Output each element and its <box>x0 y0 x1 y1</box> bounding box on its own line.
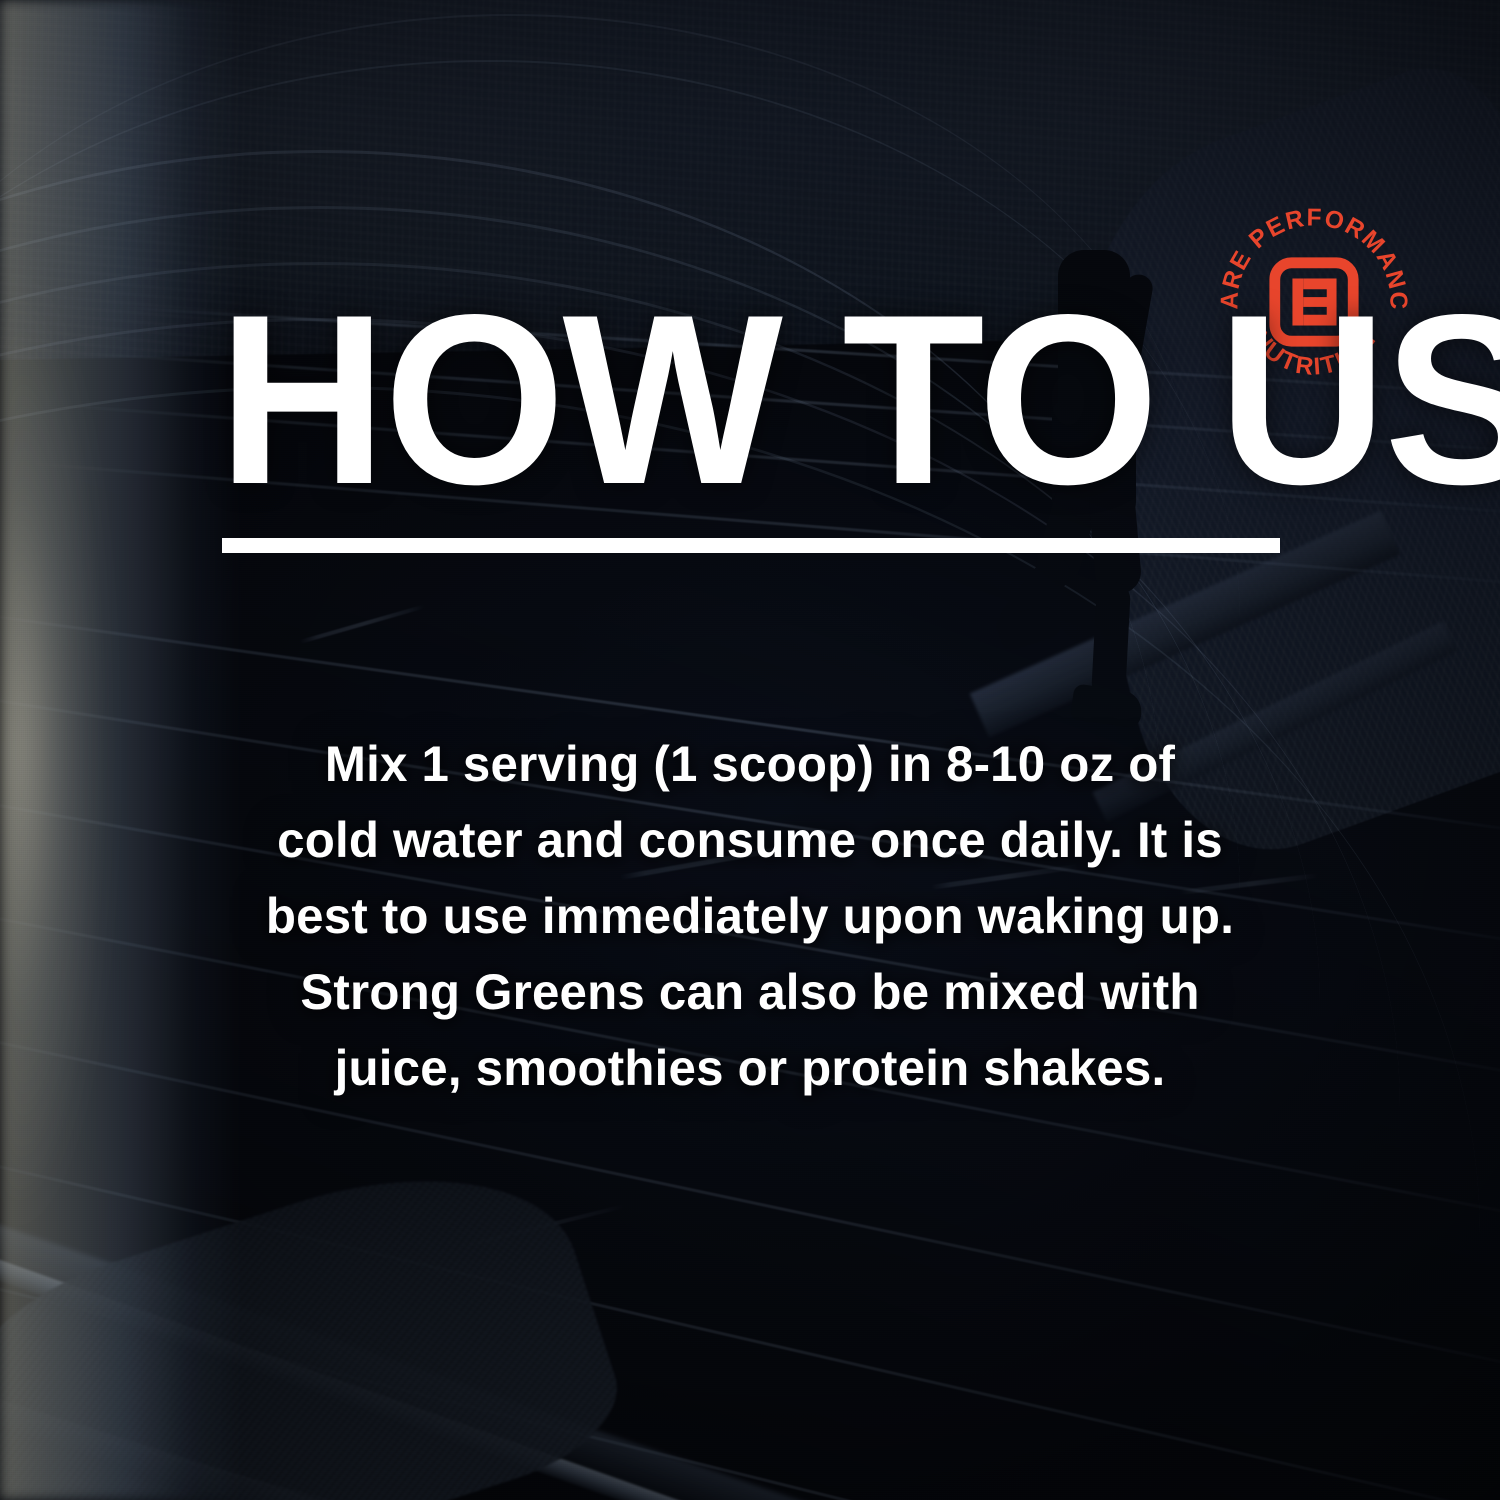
title-underline <box>222 538 1280 553</box>
promo-graphic: BARE PERFORMANCE NUTRITION <box>0 0 1500 1500</box>
instruction-line: Mix 1 serving (1 scoop) in 8-10 oz of <box>258 726 1243 802</box>
instruction-line: Strong Greens can also be mixed with <box>258 954 1243 1030</box>
instruction-line: best to use immediately upon waking up. <box>258 878 1243 954</box>
instruction-line: juice, smoothies or protein shakes. <box>258 1030 1243 1106</box>
instruction-line: cold water and consume once daily. It is <box>258 802 1243 878</box>
page-title: HOW TO USE <box>218 296 1299 504</box>
content-layer: BARE PERFORMANCE NUTRITION <box>0 0 1500 1500</box>
instructions-text: Mix 1 serving (1 scoop) in 8-10 oz of co… <box>258 726 1243 1106</box>
